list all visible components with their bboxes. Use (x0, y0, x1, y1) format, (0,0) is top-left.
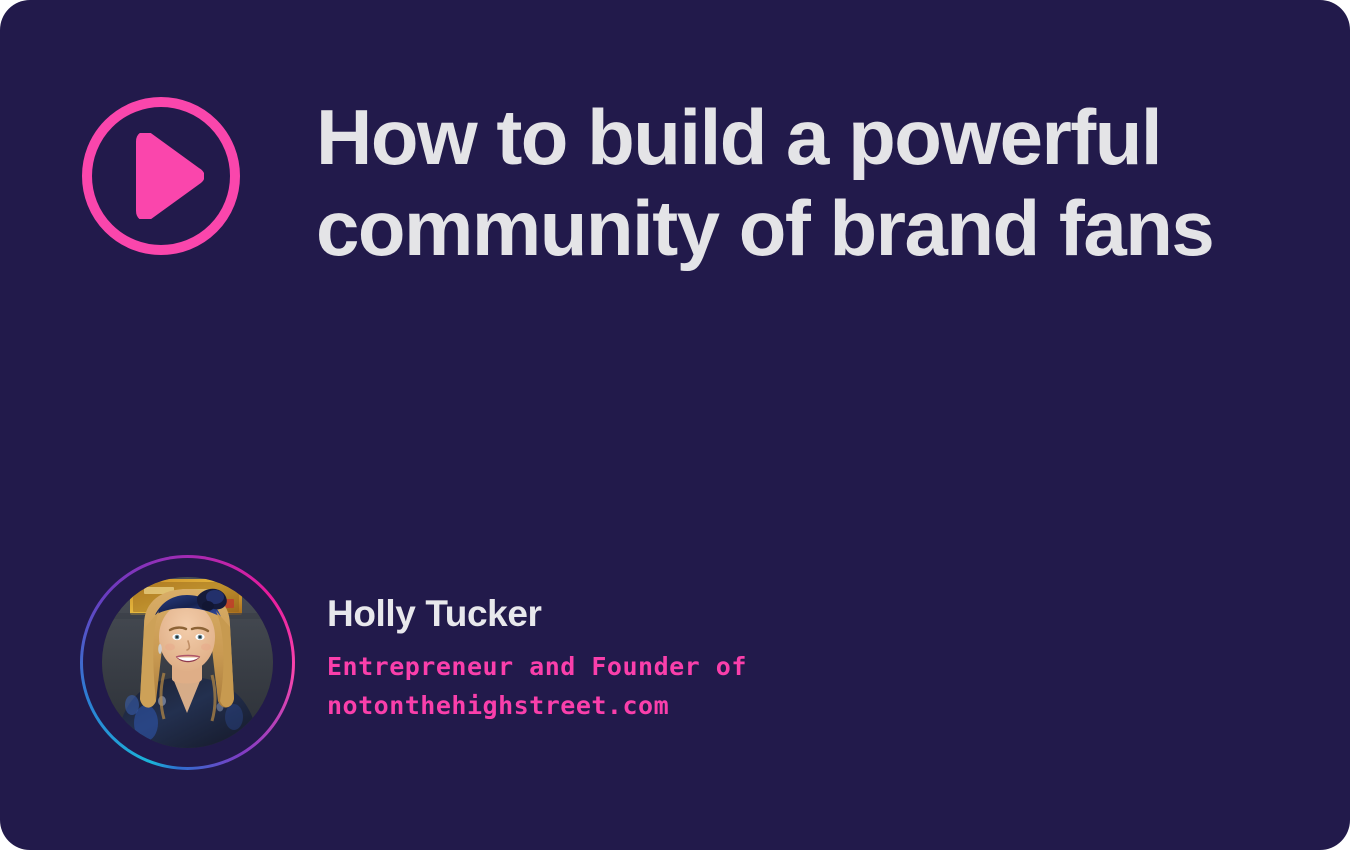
speaker-info: Holly Tucker Entrepreneur and Founder of… (327, 595, 747, 729)
speaker-role-line-2: notonthehighstreet.com (327, 687, 747, 726)
play-button[interactable] (82, 97, 240, 255)
avatar (80, 555, 295, 770)
avatar-photo (102, 577, 273, 748)
page-title: How to build a powerful community of bra… (316, 92, 1256, 275)
video-promo-card: How to build a powerful community of bra… (0, 0, 1350, 850)
speaker-role: Entrepreneur and Founder of notonthehigh… (327, 648, 747, 726)
title-line-2: community of brand fans (316, 183, 1256, 274)
play-icon (132, 133, 204, 219)
speaker-role-line-1: Entrepreneur and Founder of (327, 648, 747, 687)
speaker-block: Holly Tucker Entrepreneur and Founder of… (80, 555, 747, 770)
speaker-name: Holly Tucker (327, 595, 747, 634)
title-line-1: How to build a powerful (316, 92, 1256, 183)
